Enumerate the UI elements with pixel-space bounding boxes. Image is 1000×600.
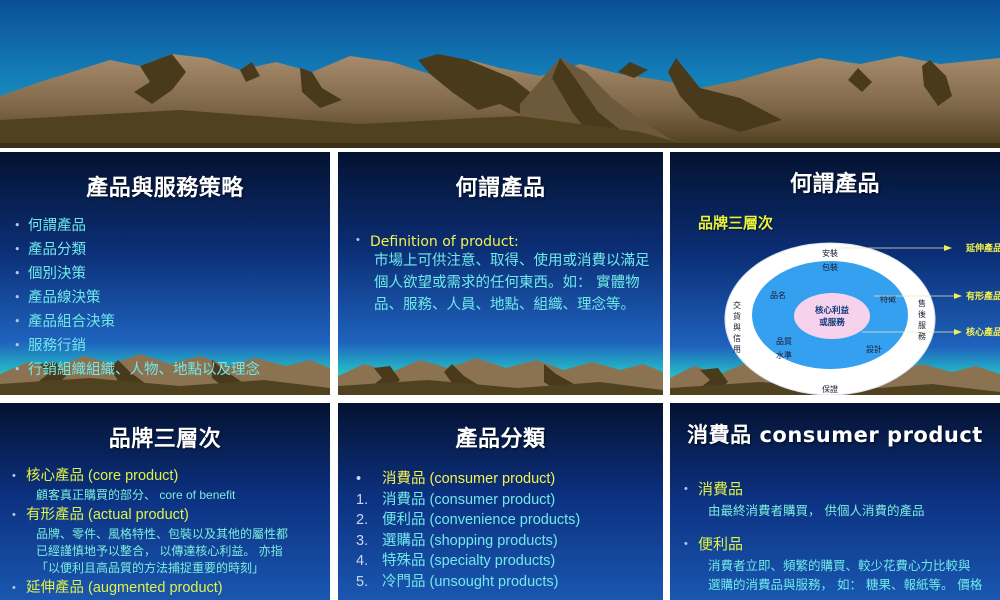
list-item-label: 產品線決策	[28, 286, 320, 310]
bullet-dot-icon: •	[14, 310, 28, 334]
list-item-detail: 品牌、零件、風格特性、包裝以及其他的屬性都	[36, 526, 324, 543]
list-item: • 消費品 (consumer product)	[356, 469, 657, 490]
diagram-label-packaging: 包裝	[822, 262, 838, 272]
definition-block: • Definition of product: 市場上可供注意、取得、使用或消…	[356, 234, 655, 316]
list-item: •產品線決策	[14, 286, 320, 310]
list-item-label: 服務行銷	[28, 334, 320, 358]
diagram-label-quality: 品質	[776, 336, 792, 346]
list-number: 4.	[356, 551, 382, 572]
bullet-dot-icon: •	[356, 469, 382, 490]
bullet-dot-icon: •	[12, 504, 26, 526]
three-layer-brand-ellipse-diagram: 包裝 品名 特徵 品質 水準 設計 核心利益 或服務 安裝 保證 交 貨	[722, 240, 1000, 395]
diagram-label-design: 設計	[866, 344, 882, 354]
slide-subhead: 品牌三層次	[698, 212, 773, 233]
list-item: •產品組合決策	[14, 310, 320, 334]
svg-text:務: 務	[918, 331, 926, 341]
list-item-label: 選購品 (shopping products)	[382, 531, 657, 552]
slide-thumbnail-3[interactable]: 何謂產品 品牌三層次 包裝 品名 特徵 品質 水準 設計	[670, 152, 1000, 395]
diagram-label-delivery-credit: 交 貨 與 信 用	[733, 300, 741, 354]
slide-thumbnail-1[interactable]: 產品與服務策略 •何謂產品 •產品分類 •個別決策 •產品線決策 •產品組合決策…	[0, 152, 330, 395]
spacer	[684, 520, 994, 532]
bullet-dot-icon: •	[12, 465, 26, 487]
list-item-label: 延伸產品 (augmented product)	[26, 577, 324, 599]
list-number: 1.	[356, 490, 382, 511]
list-item-label: 特殊品 (specialty products)	[382, 551, 657, 572]
list-item: • 消費品	[684, 477, 994, 501]
mountain-landscape-banner	[0, 0, 1000, 148]
list-item-label: 產品組合決策	[28, 310, 320, 334]
list-item-detail: 顧客真正購買的部分、 core of benefit	[36, 487, 324, 504]
svg-text:貨: 貨	[733, 311, 741, 321]
list-item-detail: 消費者立即、頻繁的購買、較少花費心力比較與	[708, 556, 994, 575]
bullet-dot-icon: •	[356, 234, 370, 246]
diagram-label-installation: 安裝	[822, 248, 838, 258]
svg-text:售: 售	[918, 298, 926, 308]
definition-head: Definition of product:	[370, 234, 655, 250]
definition-head-row: • Definition of product:	[356, 234, 655, 250]
list-item-label: 消費品	[698, 477, 994, 501]
diagram-callout-augmented: 延伸產品	[965, 242, 1000, 254]
level-list: • 核心產品 (core product) 顧客真正購買的部分、 core of…	[12, 465, 324, 600]
list-item-label: 個別決策	[28, 262, 320, 286]
list-item-label: 產品分類	[28, 238, 320, 262]
diagram-label-features: 特徵	[880, 294, 896, 304]
list-item-label: 有形產品 (actual product)	[26, 504, 324, 526]
diagram-callout-actual: 有形產品	[966, 290, 1000, 302]
diagram-label-brandname: 品名	[770, 290, 786, 300]
slide-title: 何謂產品	[338, 170, 663, 202]
bullet-dot-icon: •	[684, 532, 698, 556]
svg-text:用: 用	[733, 345, 741, 354]
list-item: 3. 選購品 (shopping products)	[356, 531, 657, 552]
slide-title: 品牌三層次	[0, 421, 330, 453]
svg-text:與: 與	[733, 322, 741, 332]
svg-text:後: 後	[918, 309, 926, 319]
list-item: •服務行銷	[14, 334, 320, 358]
list-item-label: 便利品 (convenience products)	[382, 510, 657, 531]
diagram-core-label-line1: 核心利益	[815, 305, 850, 316]
list-number: 5.	[356, 572, 382, 593]
list-item: •何謂產品	[14, 214, 320, 238]
slide-thumbnail-sheet: 產品與服務策略 •何謂產品 •產品分類 •個別決策 •產品線決策 •產品組合決策…	[0, 0, 1000, 600]
svg-text:信: 信	[733, 333, 741, 343]
diagram-callout-core: 核心產品	[966, 326, 1000, 338]
slide-title: 產品與服務策略	[0, 170, 330, 202]
slide-thumbnail-4[interactable]: 品牌三層次 • 核心產品 (core product) 顧客真正購買的部分、 c…	[0, 403, 330, 600]
definition-body: 市場上可供注意、取得、使用或消費以滿足個人欲望或需求的任何東西。如： 實體物品、…	[374, 250, 655, 316]
slide-thumbnail-6[interactable]: 消費品 consumer product • 消費品 由最終消費者購買， 供個人…	[670, 403, 1000, 600]
slide-thumbnail-5[interactable]: 產品分類 • 消費品 (consumer product) 1. 消費品 (co…	[338, 403, 663, 600]
list-item-label: 消費品 (consumer product)	[382, 469, 657, 490]
bullet-dot-icon: •	[684, 477, 698, 501]
list-item-detail: 「以便利且高品質的方法捕捉重要的時刻」	[36, 560, 324, 577]
bullet-dot-icon: •	[14, 286, 28, 310]
list-item-detail: 由最終消費者購買， 供個人消費的產品	[708, 501, 994, 520]
list-item: • 有形產品 (actual product)	[12, 504, 324, 526]
bullet-dot-icon: •	[14, 214, 28, 238]
list-item: 2. 便利品 (convenience products)	[356, 510, 657, 531]
list-item-label: 消費品 (consumer product)	[382, 490, 657, 511]
diagram-label-quality-level: 水準	[776, 350, 792, 360]
svg-text:交: 交	[733, 300, 741, 310]
list-item-label: 何謂產品	[28, 214, 320, 238]
list-item: 4. 特殊品 (specialty products)	[356, 551, 657, 572]
diagram-label-warranty: 保證	[822, 384, 838, 394]
list-item: 1. 消費品 (consumer product)	[356, 490, 657, 511]
slide-title: 消費品 consumer product	[670, 419, 1000, 449]
bullet-dot-icon: •	[14, 334, 28, 358]
list-item-label: 冷門品 (unsought products)	[382, 572, 657, 593]
slide-title: 何謂產品	[670, 166, 1000, 198]
list-item: 5. 冷門品 (unsought products)	[356, 572, 657, 593]
list-item: • 延伸產品 (augmented product)	[12, 577, 324, 599]
list-item: •產品分類	[14, 238, 320, 262]
list-number: 3.	[356, 531, 382, 552]
list-item-detail: 已經謹慎地予以整合， 以傳達核心利益。 亦指	[36, 543, 324, 560]
bullet-list: •何謂產品 •產品分類 •個別決策 •產品線決策 •產品組合決策 •服務行銷 •…	[14, 214, 320, 382]
diagram-core-label-line2: 或服務	[819, 317, 845, 328]
bullet-dot-icon: •	[14, 238, 28, 262]
bullet-dot-icon: •	[12, 577, 26, 599]
list-item-label: 行銷組織組織、人物、地點以及理念	[28, 358, 320, 382]
banner-illustration	[0, 0, 1000, 148]
slide-thumbnail-2[interactable]: 何謂產品 • Definition of product: 市場上可供注意、取得…	[338, 152, 663, 395]
svg-text:服: 服	[918, 321, 926, 330]
list-item: •行銷組織組織、人物、地點以及理念	[14, 358, 320, 382]
bullet-dot-icon: •	[14, 262, 28, 286]
list-item-label: 核心產品 (core product)	[26, 465, 324, 487]
list-item-label: 便利品	[698, 532, 994, 556]
consumer-product-list: • 消費品 由最終消費者購買， 供個人消費的產品 • 便利品 消費者立即、頻繁的…	[684, 477, 994, 594]
list-item-detail: 選購的消費品與服務， 如： 糖果、報紙等。 價格	[708, 575, 994, 594]
classification-list: • 消費品 (consumer product) 1. 消費品 (consume…	[356, 469, 657, 592]
list-item: • 便利品	[684, 532, 994, 556]
bullet-dot-icon: •	[14, 358, 28, 382]
list-item: •個別決策	[14, 262, 320, 286]
slide-title: 產品分類	[338, 421, 663, 453]
list-item: • 核心產品 (core product)	[12, 465, 324, 487]
list-number: 2.	[356, 510, 382, 531]
